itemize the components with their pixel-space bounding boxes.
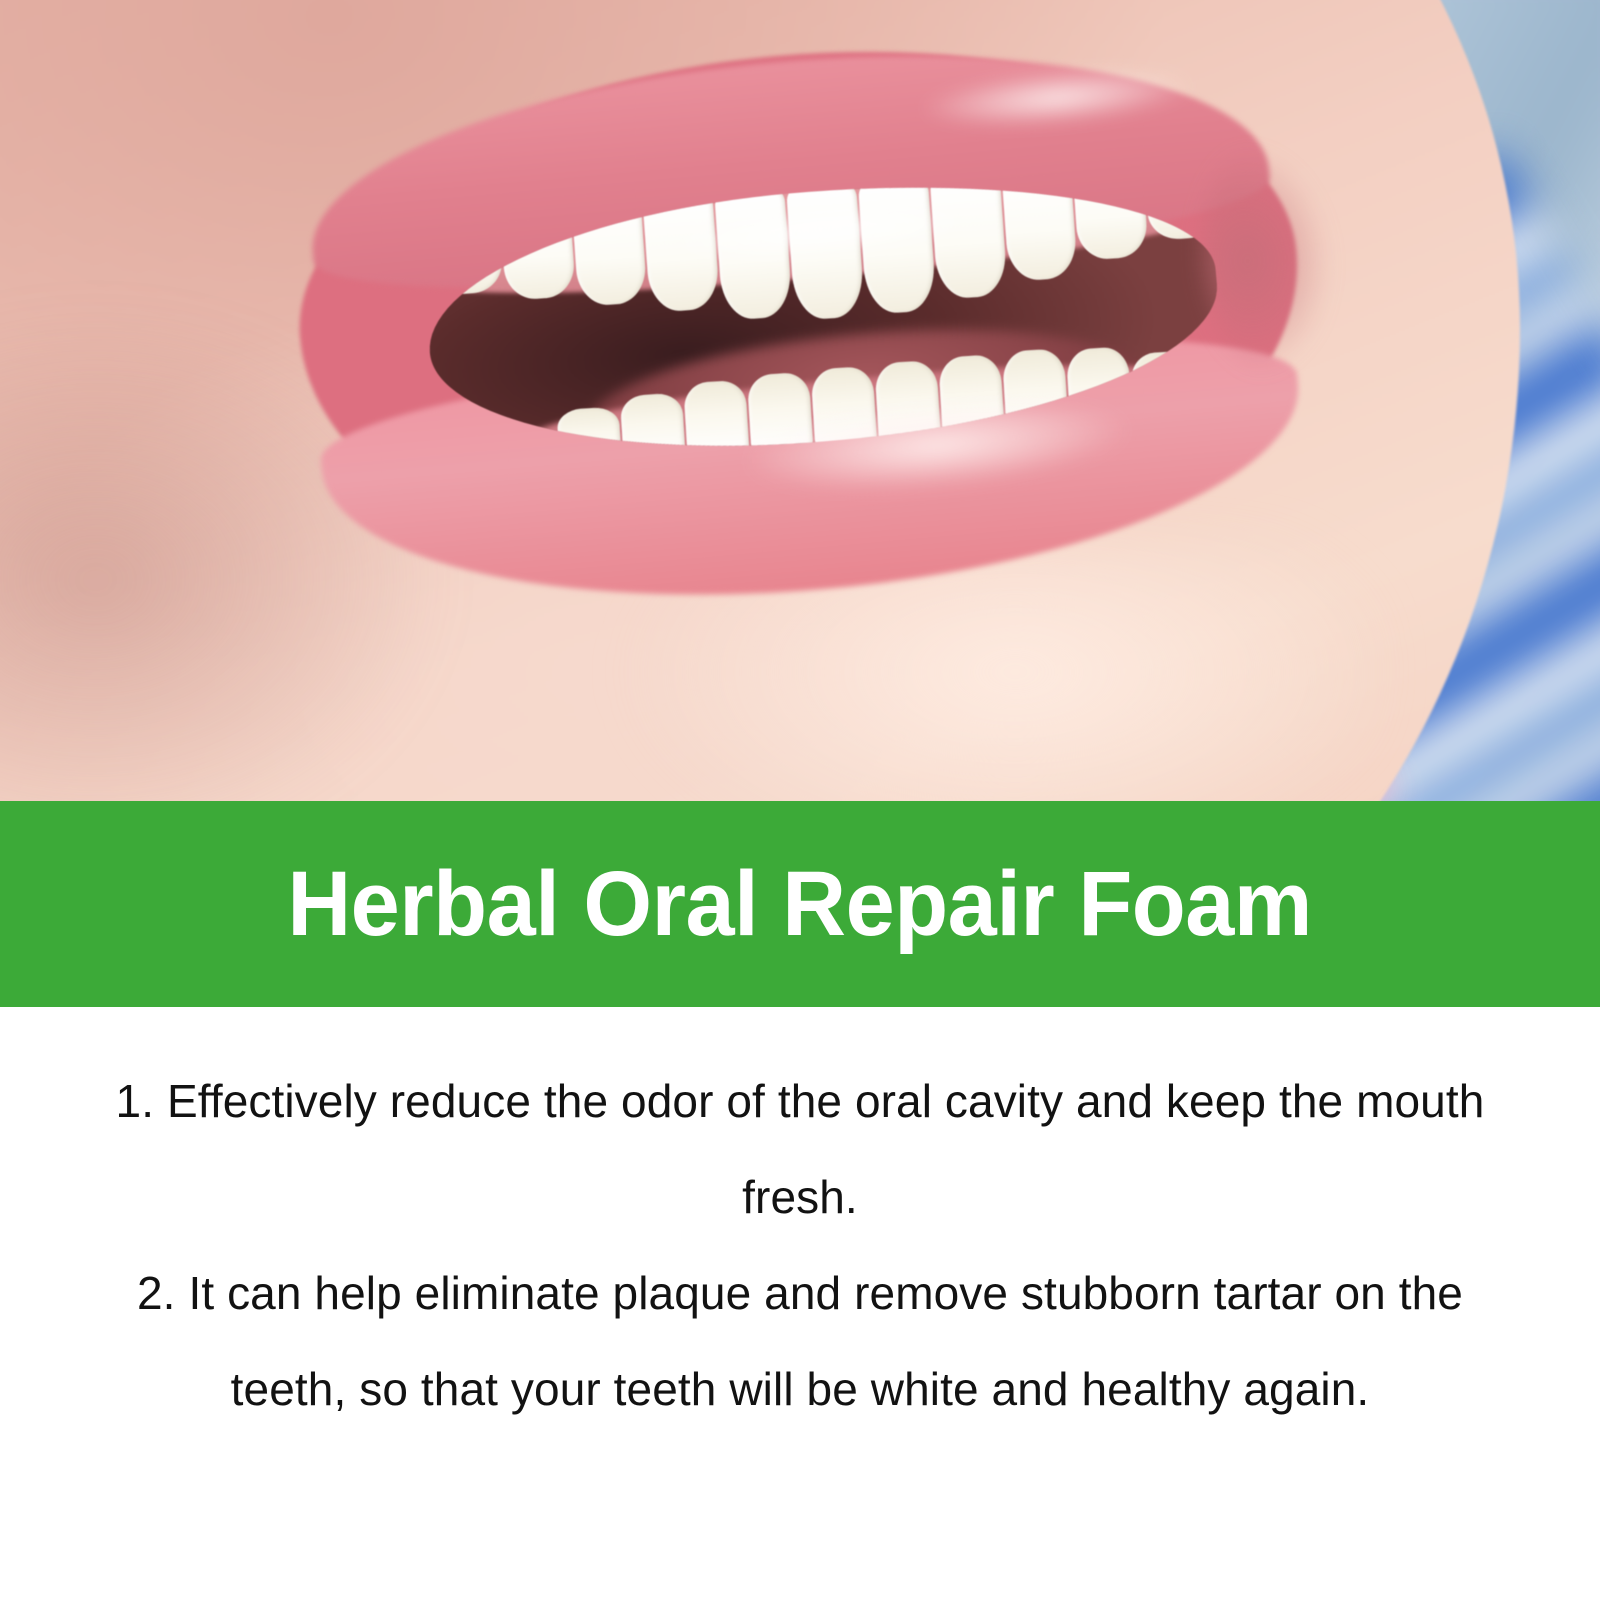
tooth [858,179,937,314]
tooth [683,380,749,456]
tooth [643,194,721,312]
product-listing-card: Herbal Oral Repair Foam 1. Effectively r… [0,0,1600,1600]
tooth [571,199,648,307]
feature-item: 1. Effectively reduce the odor of the or… [96,1053,1504,1245]
tooth [1073,164,1149,261]
tooth [557,406,622,464]
smiling-mouth [279,12,1321,617]
tooth [786,184,865,321]
product-description: 1. Effectively reduce the odor of the or… [0,1007,1600,1600]
tooth [620,392,686,460]
tooth [715,189,793,320]
tooth [500,204,576,301]
tooth [929,174,1007,300]
product-title-banner: Herbal Oral Repair Foam [0,801,1600,1007]
product-title: Herbal Oral Repair Foam [288,858,1313,950]
hero-product-photo [0,0,1600,801]
feature-item: 2. It can help eliminate plaque and remo… [96,1245,1504,1437]
tooth [1001,169,1078,282]
